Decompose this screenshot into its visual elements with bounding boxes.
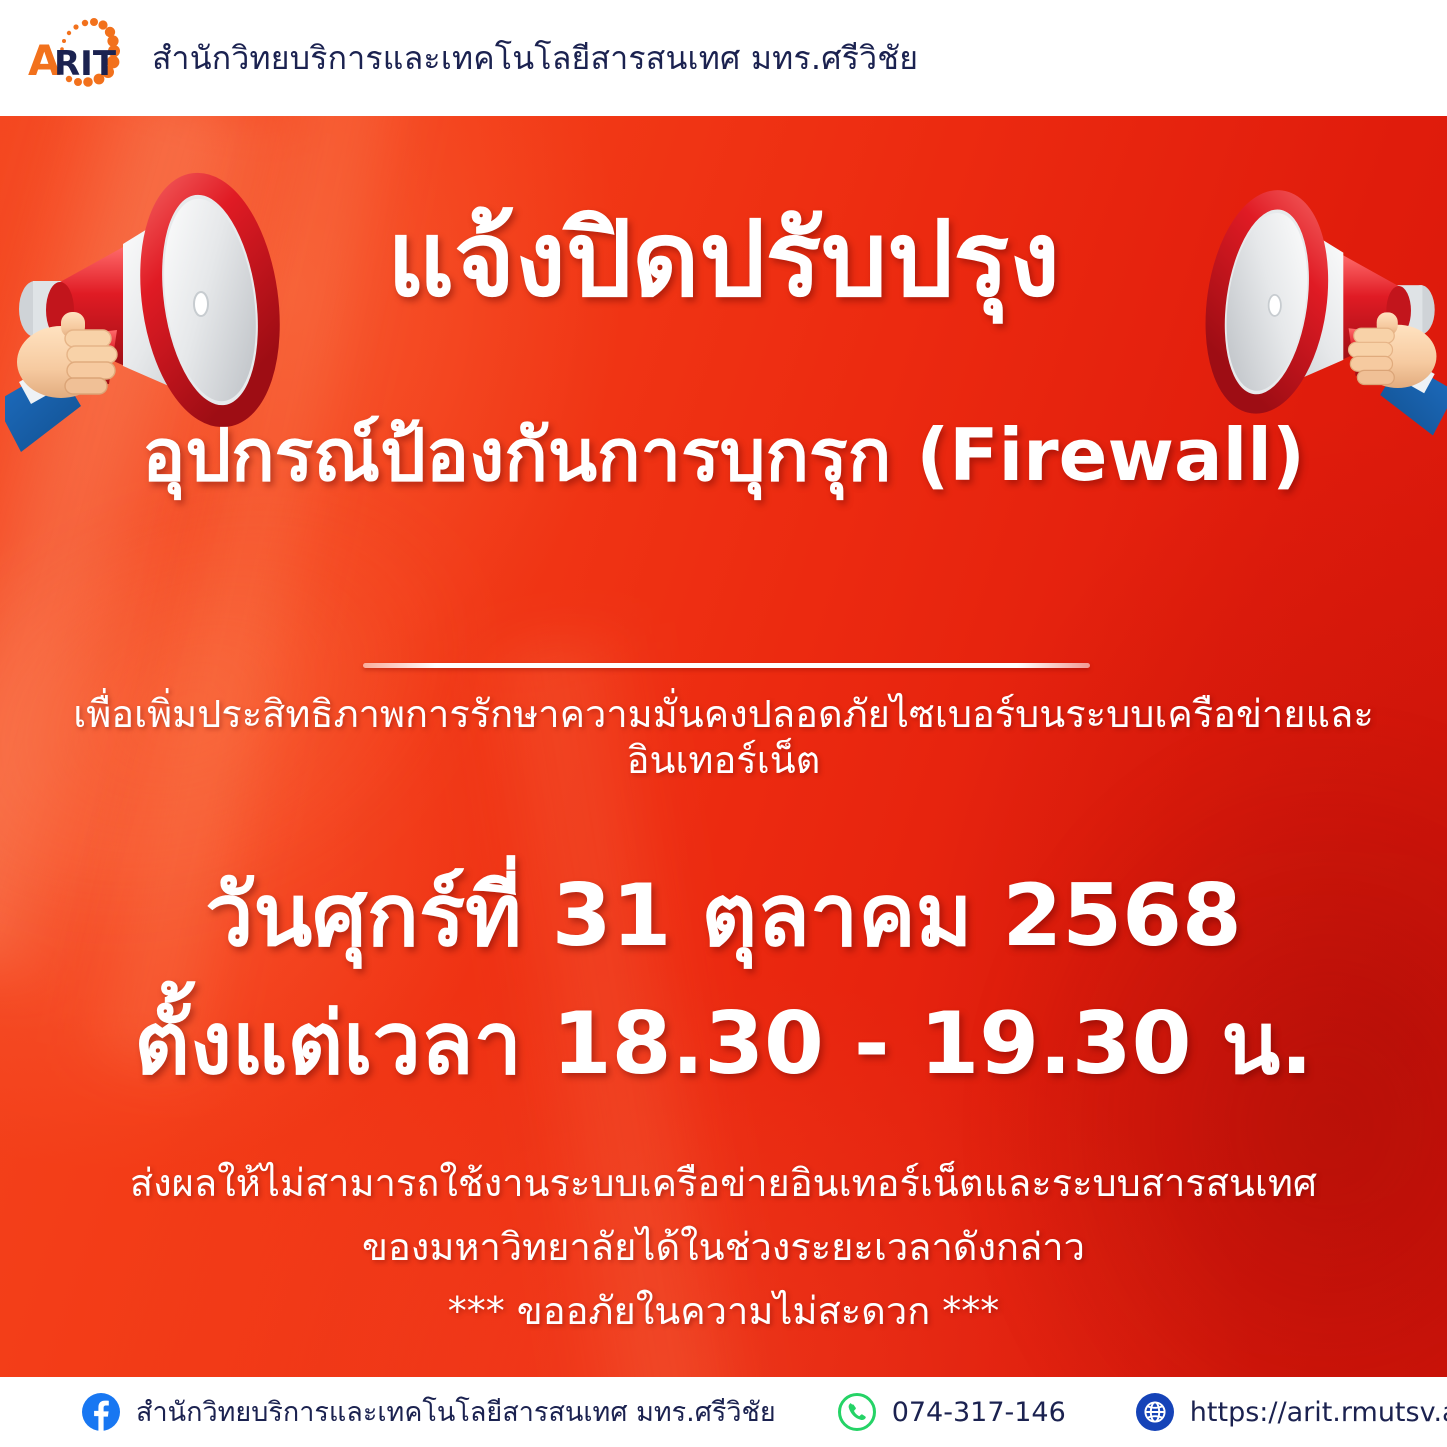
facebook-icon[interactable] [82, 1393, 120, 1431]
title-divider [363, 663, 1090, 668]
apology-line: *** ขออภัยในความไม่สะดวก *** [0, 1292, 1447, 1330]
impact-note: ส่งผลให้ไม่สามารถใช้งานระบบเครือข่ายอินเ… [0, 1164, 1447, 1356]
outage-time: ตั้งแต่เวลา 18.30 - 19.30 น. [0, 996, 1447, 1092]
footer-facebook[interactable]: สำนักวิทยบริการและเทคโนโลยีสารสนเทศ มทร.… [82, 1393, 776, 1431]
announcement-poster: A RIT สำนักวิทยบริการและเทคโนโลยีสารสนเท… [0, 0, 1447, 1447]
poster-subtitle: เพื่อเพิ่มประสิทธิภาพการรักษาความมั่นคงป… [0, 692, 1447, 783]
arit-logo-icon: A RIT [26, 15, 138, 101]
impact-note-line2: ของมหาวิทยาลัยได้ในช่วงระยะเวลาดังกล่าว [0, 1228, 1447, 1266]
header-title: สำนักวิทยบริการและเทคโนโลยีสารสนเทศ มทร.… [152, 42, 918, 74]
page-footer: สำนักวิทยบริการและเทคโนโลยีสารสนเทศ มทร.… [0, 1377, 1447, 1447]
footer-facebook-label: สำนักวิทยบริการและเทคโนโลยีสารสนเทศ มทร.… [136, 1399, 776, 1426]
svg-text:RIT: RIT [54, 44, 117, 84]
globe-icon[interactable] [1136, 1393, 1174, 1431]
poster-title-line1: แจ้งปิดปรับปรุง [0, 204, 1447, 314]
phone-icon[interactable] [838, 1393, 876, 1431]
footer-website-url: https://arit.rmutsv.ac.th [1190, 1399, 1447, 1426]
footer-phone-number: 074-317-146 [892, 1399, 1066, 1426]
footer-website[interactable]: https://arit.rmutsv.ac.th [1136, 1393, 1447, 1431]
poster-body: แจ้งปิดปรับปรุง อุปกรณ์ป้องกันการบุกรุก … [0, 116, 1447, 1377]
poster-title-line2: อุปกรณ์ป้องกันการบุกรุก (Firewall) [0, 416, 1447, 495]
footer-phone[interactable]: 074-317-146 [838, 1393, 1066, 1431]
impact-note-line1: ส่งผลให้ไม่สามารถใช้งานระบบเครือข่ายอินเ… [0, 1164, 1447, 1202]
page-header: A RIT สำนักวิทยบริการและเทคโนโลยีสารสนเท… [0, 0, 1447, 116]
arit-logo: A RIT [26, 15, 138, 101]
outage-date: วันศุกร์ที่ 31 ตุลาคม 2568 [0, 868, 1447, 964]
